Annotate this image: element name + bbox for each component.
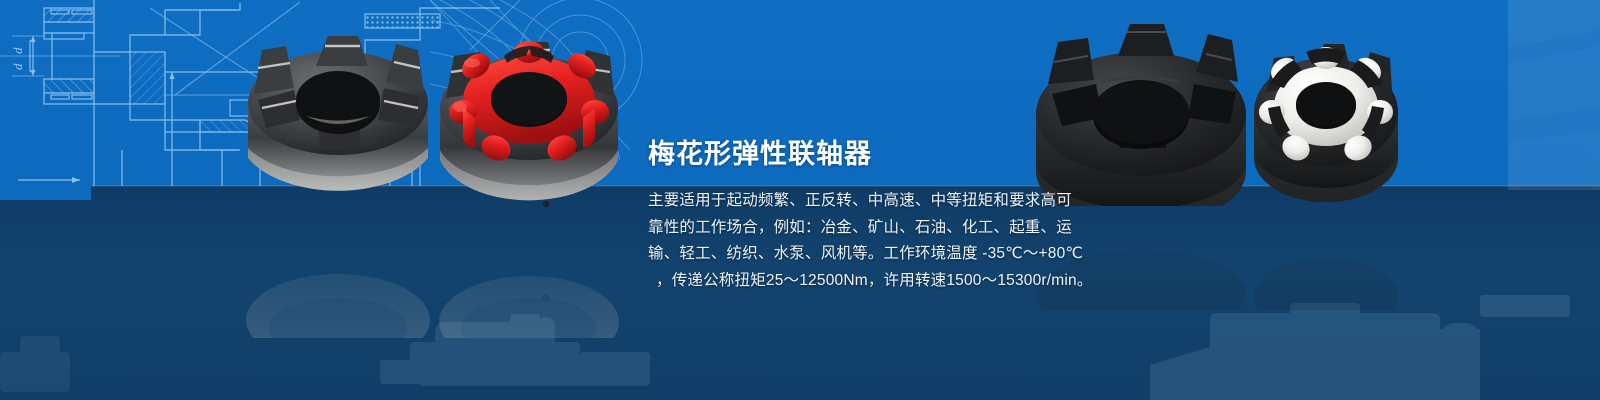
- description-line-1: 主要适用于起动频繁、正反转、中高速、中等扭矩和要求高可: [648, 188, 1068, 215]
- product-banner: L L L₀ D₁ d d L: [0, 0, 1600, 400]
- description-line-4: ，传递公称扭矩25～12500Nm，许用转速1500～15300r/min。: [648, 268, 1068, 295]
- description-line-3: 输、轻工、纺织、水泵、风机等。工作环境温度 -35℃～+80℃: [648, 241, 1068, 268]
- description-line-2: 靠性的工作场合，例如：冶金、矿山、石油、化工、起重、运: [648, 215, 1068, 242]
- banner-copy: 梅花形弹性联轴器 主要适用于起动频繁、正反转、中高速、中等扭矩和要求高可 靠性的…: [648, 134, 1068, 294]
- banner-description: 主要适用于起动频繁、正反转、中高速、中等扭矩和要求高可 靠性的工作场合，例如：冶…: [648, 188, 1068, 294]
- page-title: 梅花形弹性联轴器: [648, 134, 1068, 174]
